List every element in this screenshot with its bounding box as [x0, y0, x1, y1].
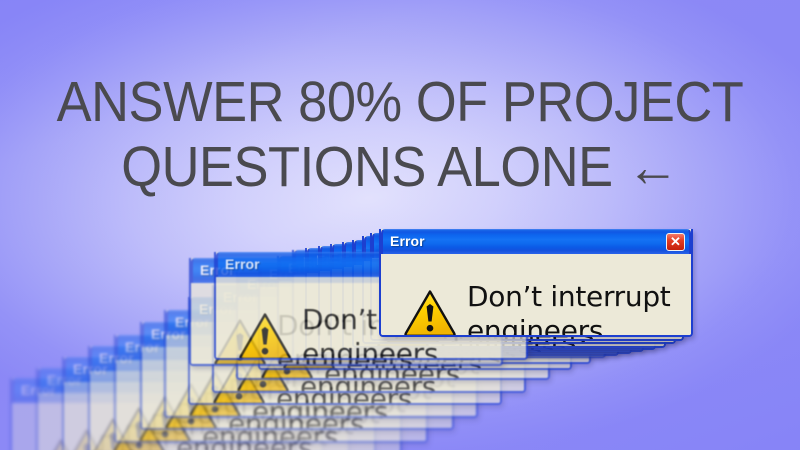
warning-triangle-icon: [403, 288, 457, 337]
dialog-body: Don’t interrupt engineers: [381, 254, 691, 335]
error-dialog[interactable]: Error ✕: [379, 229, 693, 337]
dialog-message-line-1: Don’t interrupt: [467, 280, 683, 314]
dialog-cascade-stack: Error ✕: [0, 0, 800, 450]
dialog-title-bar[interactable]: Error ✕: [381, 229, 691, 254]
dialog-message: Don’t interrupt engineers: [467, 280, 683, 337]
dialog-message-line-2: engineers: [467, 314, 683, 337]
close-icon[interactable]: ✕: [666, 233, 685, 251]
meme-image: ANSWER 80% OF PROJECT QUESTIONS ALONE ← …: [0, 0, 800, 450]
dialog-title-label: Error: [390, 233, 425, 249]
dialog-title-label: Error: [225, 256, 260, 272]
dialog-message-line-2: engineers: [302, 337, 518, 360]
warning-triangle-icon: [238, 311, 292, 360]
